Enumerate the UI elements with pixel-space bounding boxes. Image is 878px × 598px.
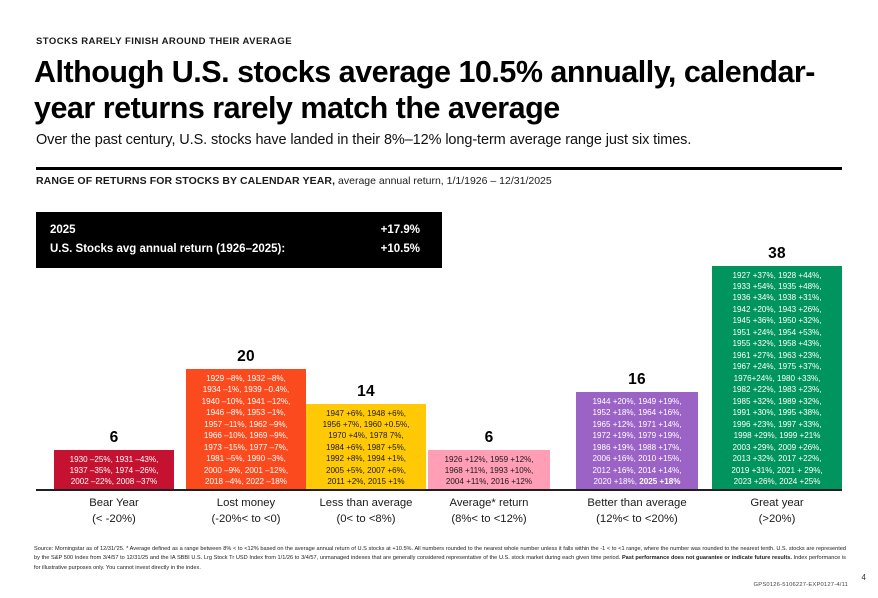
bar-year-highlight: 2025 +18% (639, 477, 680, 486)
bar-year-row: 1967 +24%, 1975 +37%, (731, 361, 822, 372)
bar-year-row: 1961 +27%, 1963 +23%, (731, 350, 822, 361)
chart-bar: 1926 +12%, 1959 +12%,1968 +11%, 1993 +10… (428, 450, 550, 492)
bar-year-row: 1998 +29%, 1999 +21% (731, 430, 822, 441)
returns-bar-chart: 61930 –25%, 1931 –43%,1937 –35%, 1974 –2… (36, 196, 842, 491)
bar-year-row: 1970 +4%, 1978 7%, (323, 430, 410, 441)
infographic-page: STOCKS RARELY FINISH AROUND THEIR AVERAG… (0, 0, 878, 598)
bar-year-row: 1951 +24%, 1954 +53%, (731, 327, 822, 338)
bar-year-row: 1944 +20%, 1949 +19%, (592, 396, 681, 407)
bar-year-row: 1991 +30%, 1995 +38%, (731, 407, 822, 418)
chart-column: 161944 +20%, 1949 +19%,1952 +18%, 1964 +… (576, 371, 698, 491)
bar-year-row: 2012 +16%, 2014 +14%, (592, 465, 681, 476)
bar-count-label: 14 (357, 383, 375, 401)
bar-year-row: 1952 +18%, 1964 +16%, (592, 407, 681, 418)
chart-caption: RANGE OF RETURNS FOR STOCKS BY CALENDAR … (36, 175, 552, 187)
bar-year-list: 1947 +6%, 1948 +6%,1956 +7%, 1960 +0.5%,… (320, 404, 413, 491)
bar-year-row: 2020 +18%, 2025 +18% (592, 476, 681, 487)
bar-year-row: 2004 +11%, 2016 +12% (444, 476, 533, 487)
chart-bar: 1929 –8%, 1932 –8%,1934 –1%, 1939 –0.4%,… (186, 369, 306, 491)
source-footnote: Source: Morningstar as of 12/31/'25. * A… (34, 545, 846, 573)
x-axis-label-name: Bear Year (54, 495, 174, 511)
x-axis-label-6: Great year(>20%) (712, 495, 842, 527)
x-axis-label-range: (8%< to <12%) (428, 511, 550, 527)
bar-year-row: 1936 +34%, 1938 +31%, (731, 292, 822, 303)
x-axis-label-name: Lost money (186, 495, 306, 511)
footnote-bold: Past performance does not guarantee or i… (622, 555, 792, 561)
x-axis-label-4: Average* return(8%< to <12%) (428, 495, 550, 527)
bar-year-list: 1930 –25%, 1931 –43%,1937 –35%, 1974 –26… (67, 450, 162, 491)
bar-year-row: 1968 +11%, 1993 +10%, (444, 465, 533, 476)
bar-year-row: 1956 +7%, 1960 +0.5%, (323, 419, 410, 430)
bar-year-row: 1934 –1%, 1939 –0.4%, (202, 384, 291, 395)
bar-year-row: 1926 +12%, 1959 +12%, (444, 454, 533, 465)
bar-count-label: 38 (768, 245, 786, 263)
bar-year-row: 2011 +2%, 2015 +1% (323, 476, 410, 487)
x-axis-label-range: (0< to <8%) (306, 511, 426, 527)
bar-year-row: 1942 +20%, 1943 +26%, (731, 304, 822, 315)
bar-year-row: 1947 +6%, 1948 +6%, (323, 408, 410, 419)
chart-baseline-axis (36, 489, 842, 491)
bar-year-row: 2000 –9%, 2001 –12%, (202, 465, 291, 476)
chart-bar: 1930 –25%, 1931 –43%,1937 –35%, 1974 –26… (54, 450, 174, 492)
bar-year-row: 2013 +32%, 2017 +22%, (731, 453, 822, 464)
bar-year-row: 2006 +16%, 2010 +15%, (592, 453, 681, 464)
bar-year-row: 1933 +54%, 1935 +48%, (731, 281, 822, 292)
chart-x-axis-labels: Bear Year(< -20%)Lost money(-20%< to <0)… (36, 495, 842, 535)
chart-column: 61930 –25%, 1931 –43%,1937 –35%, 1974 –2… (54, 429, 174, 492)
chart-bar: 1944 +20%, 1949 +19%,1952 +18%, 1964 +16… (576, 392, 698, 491)
bar-year-row: 1929 –8%, 1932 –8%, (202, 373, 291, 384)
x-axis-label-range: (< -20%) (54, 511, 174, 527)
chart-column: 61926 +12%, 1959 +12%,1968 +11%, 1993 +1… (428, 429, 550, 492)
bar-year-list: 1927 +37%, 1928 +44%,1933 +54%, 1935 +48… (728, 266, 825, 491)
bar-year-row: 1927 +37%, 1928 +44%, (731, 270, 822, 281)
bar-year-row: 2002 –22%, 2008 –37% (70, 476, 159, 487)
x-axis-label-1: Bear Year(< -20%) (54, 495, 174, 527)
bar-year-row: 2005 +5%, 2007 +6%, (323, 465, 410, 476)
bar-year-row: 1986 +19%, 1988 +17%, (592, 442, 681, 453)
chart-column: 381927 +37%, 1928 +44%,1933 +54%, 1935 +… (712, 245, 842, 492)
x-axis-label-3: Less than average(0< to <8%) (306, 495, 426, 527)
bar-year-row: 1973 –15%, 1977 –7%, (202, 442, 291, 453)
x-axis-label-range: (-20%< to <0) (186, 511, 306, 527)
eyebrow-kicker: STOCKS RARELY FINISH AROUND THEIR AVERAG… (36, 36, 292, 47)
bar-year-row: 1985 +32%, 1989 +32%, (731, 396, 822, 407)
bar-year-row: 1930 –25%, 1931 –43%, (70, 454, 159, 465)
bar-year-list: 1926 +12%, 1959 +12%,1968 +11%, 1993 +10… (441, 450, 536, 491)
bar-year-row: 1972 +19%, 1979 +19%, (592, 430, 681, 441)
bar-year-row: 1945 +36%, 1950 +32%, (731, 315, 822, 326)
bar-count-label: 6 (110, 429, 119, 447)
bar-year-list: 1929 –8%, 1932 –8%,1934 –1%, 1939 –0.4%,… (199, 369, 294, 491)
x-axis-label-name: Great year (712, 495, 842, 511)
x-axis-label-2: Lost money(-20%< to <0) (186, 495, 306, 527)
x-axis-label-name: Better than average (576, 495, 698, 511)
chart-column: 201929 –8%, 1932 –8%,1934 –1%, 1939 –0.4… (186, 348, 306, 491)
x-axis-label-name: Less than average (306, 495, 426, 511)
bar-year-row: 1984 +6%, 1987 +5%, (323, 442, 410, 453)
bar-year-row: 1992 +8%, 1994 +1%, (323, 453, 410, 464)
chart-bar: 1927 +37%, 1928 +44%,1933 +54%, 1935 +48… (712, 266, 842, 492)
bar-year-row: 1982 +22%, 1983 +23%, (731, 384, 822, 395)
bar-year-row: 1996 +23%, 1997 +33%, (731, 419, 822, 430)
x-axis-label-range: (12%< to <20%) (576, 511, 698, 527)
page-title: Although U.S. stocks average 10.5% annua… (34, 55, 844, 126)
bar-year-row: 1976+24%, 1980 +33%, (731, 373, 822, 384)
bar-year-row: 1946 –8%, 1953 –1%, (202, 407, 291, 418)
bar-year-row: 1957 –11%, 1962 –9%, (202, 419, 291, 430)
header-divider (36, 167, 842, 170)
x-axis-label-range: (>20%) (712, 511, 842, 527)
x-axis-label-5: Better than average(12%< to <20%) (576, 495, 698, 527)
bar-year-row: 2023 +26%, 2024 +25% (731, 476, 822, 487)
bar-year-row: 1940 –10%, 1941 –12%, (202, 396, 291, 407)
bar-count-label: 16 (628, 371, 646, 389)
bar-year-row: 2018 –4%, 2022 –18% (202, 476, 291, 487)
page-subtitle: Over the past century, U.S. stocks have … (36, 132, 836, 148)
chart-caption-bold: RANGE OF RETURNS FOR STOCKS BY CALENDAR … (36, 175, 335, 187)
page-number: 4 (862, 573, 866, 582)
x-axis-label-name: Average* return (428, 495, 550, 511)
bar-year-row: 2003 +29%, 2009 +26%, (731, 442, 822, 453)
bar-count-label: 6 (485, 429, 494, 447)
chart-caption-light: average annual return, 1/1/1926 – 12/31/… (335, 175, 552, 187)
bar-year-row: 2019 +31%, 2021 + 29%, (731, 465, 822, 476)
bar-year-row: 1937 –35%, 1974 –26%, (70, 465, 159, 476)
bar-year-row: 1965 +12%, 1971 +14%, (592, 419, 681, 430)
chart-column: 141947 +6%, 1948 +6%,1956 +7%, 1960 +0.5… (306, 383, 426, 492)
bar-year-row: 1955 +32%, 1958 +43%, (731, 338, 822, 349)
bar-year-row: 1981 –5%, 1990 –3%, (202, 453, 291, 464)
chart-bar: 1947 +6%, 1948 +6%,1956 +7%, 1960 +0.5%,… (306, 404, 426, 492)
bar-year-list: 1944 +20%, 1949 +19%,1952 +18%, 1964 +16… (589, 392, 684, 491)
document-id: GPS0126-5106227-EXP0127-4/11 (754, 582, 848, 588)
bar-count-label: 20 (237, 348, 255, 366)
bar-year-row: 1966 –10%, 1969 –9%, (202, 430, 291, 441)
